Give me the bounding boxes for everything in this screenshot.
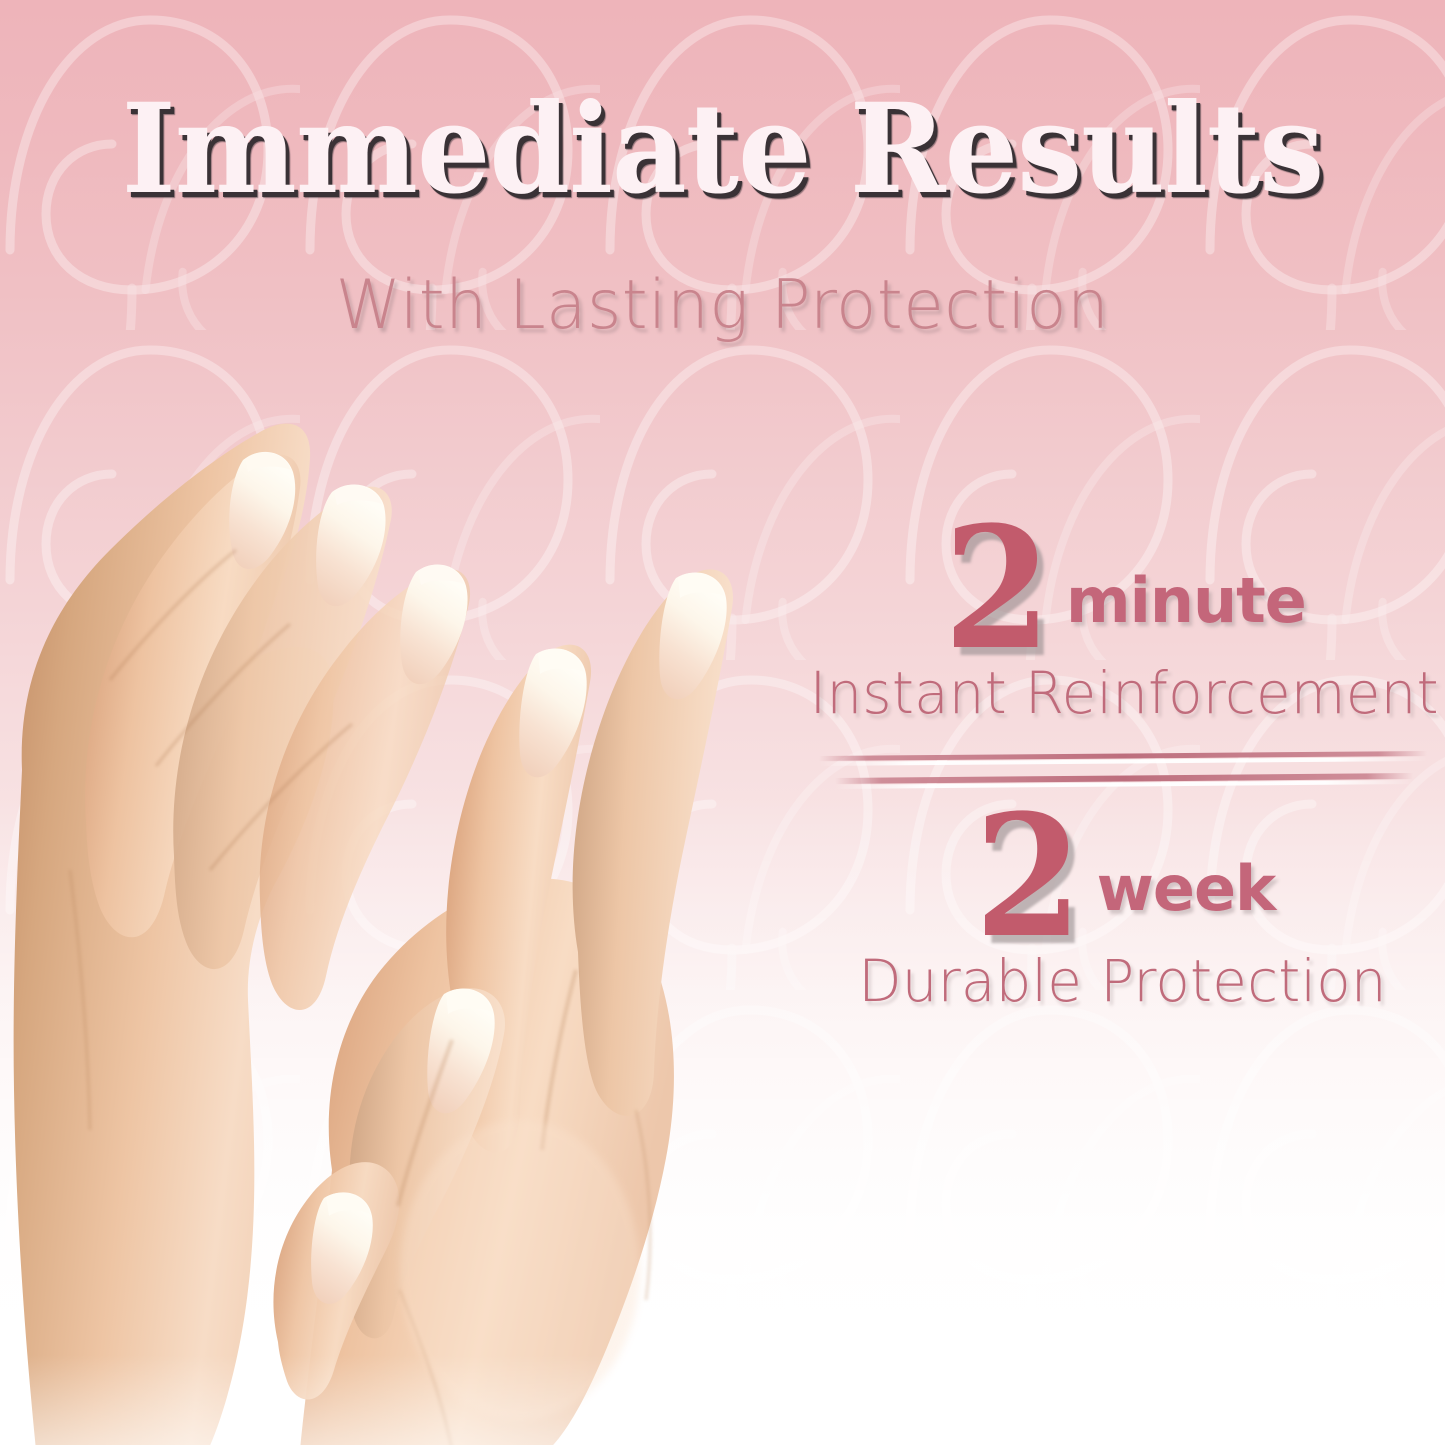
promo-banner: Immediate Results With Lasting Protectio… [0,0,1445,1445]
stat-block-instant-reinforcement: 2 minute Instant Reinforcement [800,520,1445,722]
stats-column: 2 minute Instant Reinforcement [800,520,1445,1010]
stat-value-row: 2 minute [800,520,1445,658]
stat-caption: Durable Protection [810,952,1436,1010]
nails-back-hand [229,452,467,684]
stat-unit: minute [1066,570,1306,658]
stat-number: 2 [974,808,1082,946]
stat-value-row: 2 week [800,808,1445,946]
stat-number: 2 [944,520,1052,658]
nails-front-hand [311,572,727,1303]
stat-block-durable-protection: 2 week Durable Protection [800,808,1445,1010]
stat-unit: week [1097,858,1276,946]
hand-back [14,424,470,1445]
page-title: Immediate Results [51,88,1395,212]
hands-photo [0,210,920,1445]
page-subtitle: With Lasting Protection [22,272,1424,340]
stat-caption: Instant Reinforcement [810,664,1436,722]
hand-front [273,569,733,1445]
ornamental-divider [813,736,1433,802]
